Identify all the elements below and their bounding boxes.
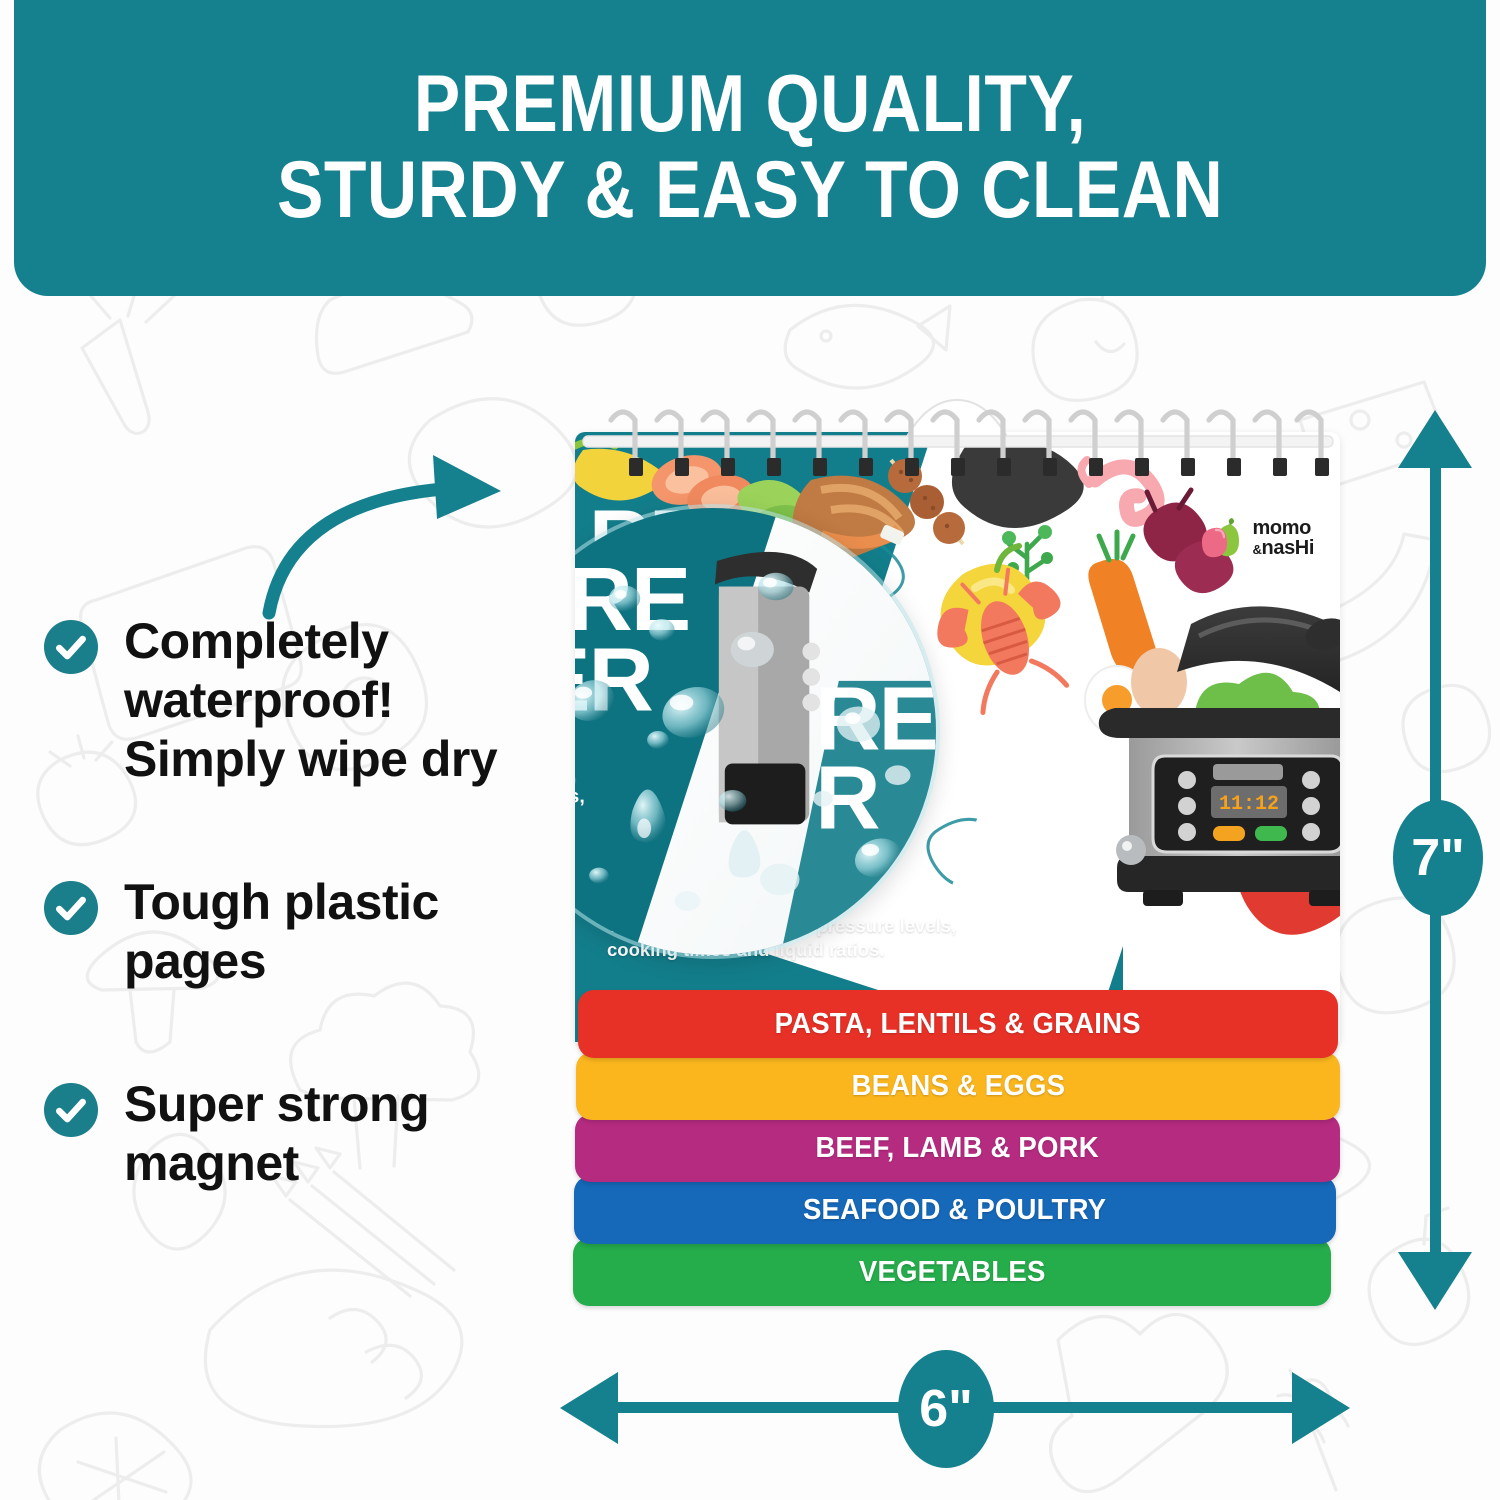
- header-banner: PREMIUM QUALITY, STURDY & EASY TO CLEAN: [14, 0, 1486, 296]
- width-dimension-label: 6": [898, 1350, 994, 1468]
- header-line-2: STURDY & EASY TO CLEAN: [277, 148, 1223, 234]
- brand-name-line-2: nasHi: [1262, 537, 1314, 559]
- category-tab-seafood[interactable]: SEAFOOD & POULTRY: [574, 1176, 1336, 1244]
- feature-item-magnet: Super strong magnet: [44, 1075, 514, 1193]
- svg-text:re levels,: re levels,: [575, 786, 585, 808]
- feature-label: Super strong magnet: [124, 1075, 514, 1193]
- card-face: 11:12 RE ER: [575, 432, 1340, 1042]
- check-circle-icon: [44, 1083, 98, 1137]
- category-label: PASTA, LENTILS & GRAINS: [775, 1008, 1141, 1041]
- product-card: 11:12 RE ER: [575, 396, 1340, 1326]
- feature-list: Completely waterproof! Simply wipe dry T…: [44, 612, 514, 1193]
- brand-ampersand: &: [1253, 542, 1262, 557]
- category-tab-beef[interactable]: BEEF, LAMB & PORK: [575, 1114, 1340, 1182]
- header-line-1: PREMIUM QUALITY,: [414, 62, 1087, 148]
- feature-item-tough-pages: Tough plastic pages: [44, 873, 514, 991]
- cooker-display-time: 11:12: [1219, 793, 1279, 816]
- waterproof-magnifier: RE ER RE R: [575, 504, 940, 959]
- category-label: BEEF, LAMB & PORK: [816, 1132, 1099, 1165]
- category-tab-pasta[interactable]: PASTA, LENTILS & GRAINS: [578, 990, 1338, 1058]
- check-circle-icon: [44, 620, 98, 674]
- category-tab-vegetables[interactable]: VEGETABLES: [573, 1238, 1331, 1306]
- category-tab-beans[interactable]: BEANS & EGGS: [576, 1052, 1340, 1120]
- category-label: SEAFOOD & POULTRY: [803, 1194, 1106, 1227]
- curved-pointer-arrow-icon: [255, 435, 555, 625]
- feature-label: Completely waterproof! Simply wipe dry: [124, 612, 514, 789]
- product-feature-image: PREMIUM QUALITY, STURDY & EASY TO CLEAN …: [0, 0, 1500, 1500]
- feature-label: Tough plastic pages: [124, 873, 514, 991]
- category-tabs: PASTA, LENTILS & GRAINS BEANS & EGGS BEE…: [575, 996, 1340, 1306]
- brand-name-line-1: momo: [1253, 518, 1314, 538]
- height-dimension-label: 7": [1393, 800, 1483, 916]
- category-label: VEGETABLES: [859, 1256, 1046, 1289]
- spiral-binding: [575, 396, 1340, 506]
- peach-pear-logo-icon: [1200, 518, 1244, 558]
- feature-item-waterproof: Completely waterproof! Simply wipe dry: [44, 612, 514, 789]
- category-label: BEANS & EGGS: [851, 1070, 1065, 1103]
- check-circle-icon: [44, 881, 98, 935]
- brand-logo: momo &nasHi: [1200, 518, 1314, 558]
